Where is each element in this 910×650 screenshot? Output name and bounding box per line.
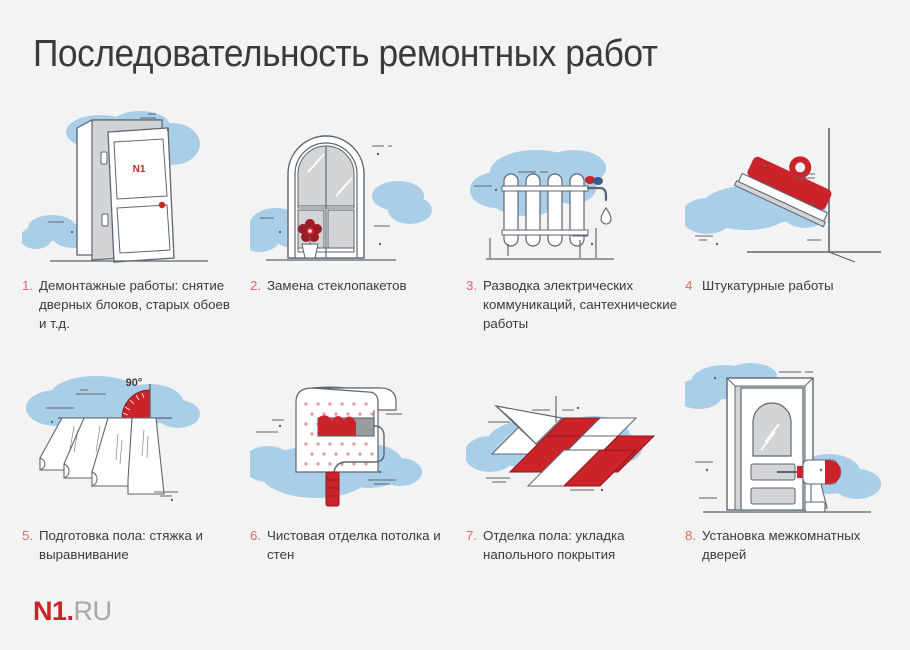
door-leaf <box>741 388 803 510</box>
step-number-5: 5. <box>22 526 33 545</box>
step-number-6: 6. <box>250 526 261 545</box>
illustration-checkered-tiles <box>466 360 676 520</box>
step-caption-4: 4 Штукатурные работы <box>685 276 899 295</box>
page-title: Последовательность ремонтных работ <box>33 33 657 76</box>
illustration-radiator-faucet <box>466 110 676 270</box>
step-text-8: Установка межкомнатных дверей <box>702 526 899 564</box>
step-text-2: Замена стеклопакетов <box>267 276 464 295</box>
illustration-arched-window <box>250 110 460 270</box>
illustration-interior-door-drill <box>685 360 895 520</box>
infographic-page: Последовательность ремонтных работ <box>0 0 910 650</box>
step-item-7: 7. Отделка пола: укладка напольного покр… <box>466 360 680 564</box>
steps-row-1: N1 1. Демонтажные работы <box>0 110 910 360</box>
step-number-1: 1. <box>22 276 33 295</box>
step-number-2: 2. <box>250 276 261 295</box>
step-caption-2: 2. Замена стеклопакетов <box>250 276 464 295</box>
step-text-4: Штукатурные работы <box>702 276 899 295</box>
step-item-2: 2. Замена стеклопакетов <box>250 110 464 295</box>
illustration-floor-planks-protractor: 90° <box>22 360 232 520</box>
floor-planks <box>40 418 164 494</box>
step-item-4: 4 Штукатурные работы <box>685 110 899 295</box>
step-text-5: Подготовка пола: стяжка и выравнивание <box>39 526 236 564</box>
step-text-6: Чистовая отделка потолка и стен <box>267 526 464 564</box>
step-caption-5: 5. Подготовка пола: стяжка и выравнивани… <box>22 526 236 564</box>
illustration-plaster-trowel <box>685 110 895 270</box>
step-text-7: Отделка пола: укладка напольного покрыти… <box>483 526 680 564</box>
steps-row-2: 90° <box>0 360 910 610</box>
step-item-3: 3. Разводка электрических коммуникаций, … <box>466 110 680 333</box>
step-number-4: 4 <box>685 276 692 295</box>
window <box>288 136 364 258</box>
step-number-3: 3. <box>466 276 477 295</box>
logo-mark: N1 <box>33 596 67 626</box>
faucet <box>585 176 611 224</box>
illustration-paint-roller <box>250 360 460 520</box>
logo-dot: . <box>67 596 74 626</box>
step-caption-6: 6. Чистовая отделка потолка и стен <box>250 526 464 564</box>
step-item-6: 6. Чистовая отделка потолка и стен <box>250 360 464 564</box>
radiator <box>490 174 596 258</box>
step-caption-8: 8. Установка межкомнатных дверей <box>685 526 899 564</box>
step-number-8: 8. <box>685 526 696 545</box>
step-item-1: N1 1. Демонтажные работы <box>22 110 236 333</box>
step-text-1: Демонтажные работы: снятие дверных блоко… <box>39 276 236 333</box>
svg-text:N1: N1 <box>133 164 146 175</box>
step-caption-1: 1. Демонтажные работы: снятие дверных бл… <box>22 276 236 333</box>
steps-grid: N1 1. Демонтажные работы <box>0 110 910 610</box>
step-item-5: 90° <box>22 360 236 564</box>
svg-text:90°: 90° <box>126 377 143 389</box>
step-item-8: 8. Установка межкомнатных дверей <box>685 360 899 564</box>
step-text-3: Разводка электрических коммуникаций, сан… <box>483 276 680 333</box>
site-logo[interactable]: N1.RU <box>33 598 112 625</box>
logo-suffix: RU <box>74 596 112 626</box>
step-caption-7: 7. Отделка пола: укладка напольного покр… <box>466 526 680 564</box>
step-caption-3: 3. Разводка электрических коммуникаций, … <box>466 276 680 333</box>
step-number-7: 7. <box>466 526 477 545</box>
illustration-door-removed: N1 <box>22 110 232 270</box>
